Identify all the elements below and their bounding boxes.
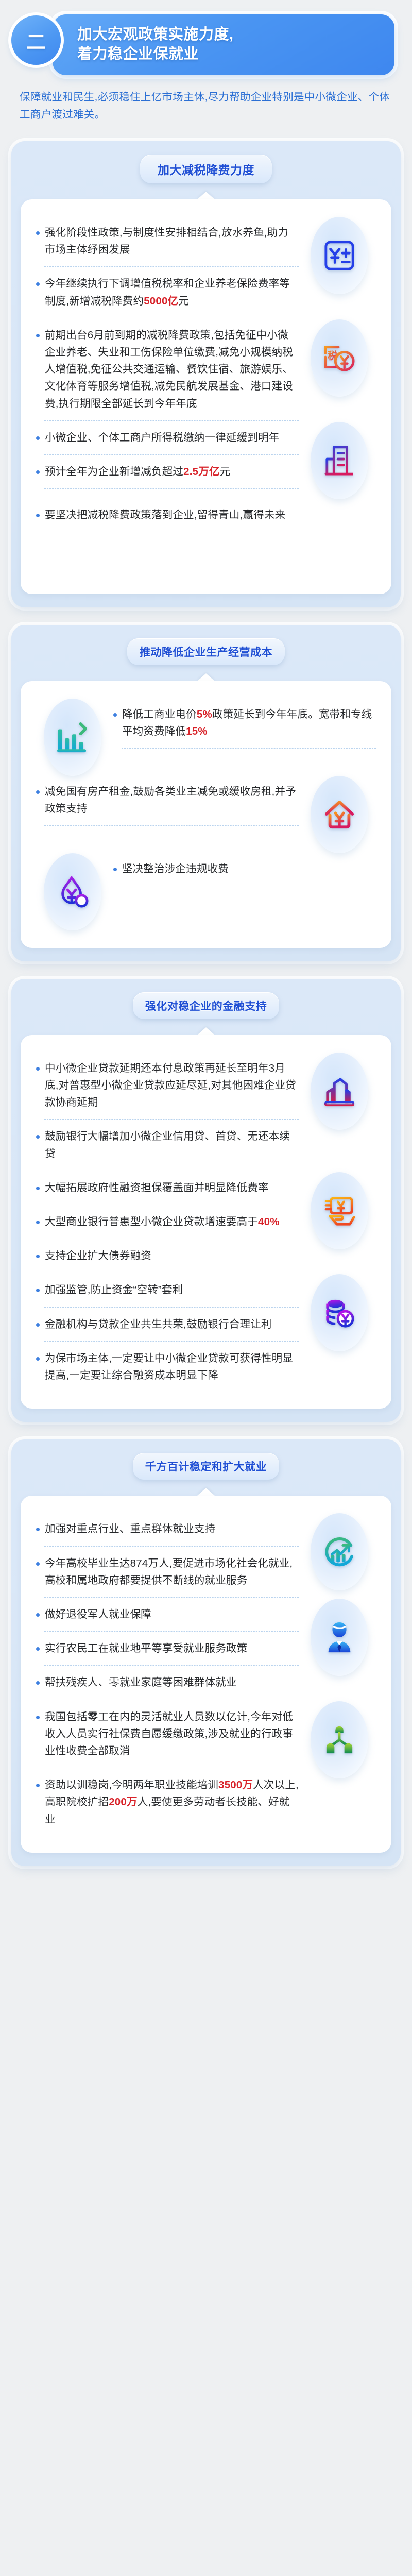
icon-cell bbox=[301, 1274, 378, 1351]
icon-cell: 税 bbox=[301, 319, 378, 397]
bullet-text: 加强监管,防止资金“空转”套利 bbox=[45, 1281, 183, 1298]
page-title-line-1: 加大宏观政策实施力度, bbox=[77, 25, 234, 45]
bullet-divider bbox=[44, 1546, 299, 1547]
header-title-bar: 加大宏观政策实施力度, 着力稳企业保就业 bbox=[53, 14, 394, 75]
section-notch bbox=[197, 192, 215, 199]
section-title: 加大减税降费力度 bbox=[140, 155, 272, 183]
bullet-text: 鼓励银行大幅增加小微企业信用贷、首贷、无还本续贷 bbox=[45, 1128, 299, 1162]
highlight-value: 5% bbox=[197, 708, 212, 720]
bullet-text: 前期出台6月前到期的减税降费政策,包括免征中小微企业养老、失业和工伤保险单位缴费… bbox=[45, 327, 299, 412]
bullet-divider bbox=[44, 1341, 299, 1342]
bullet-text-group: 加强对重点行业、重点群体就业支持今年高校毕业生达874万人,要促进市场化社会化就… bbox=[34, 1513, 301, 1599]
water-drop-yen-minus-icon bbox=[44, 853, 101, 930]
bullet-row: 加强对重点行业、重点群体就业支持今年高校毕业生达874万人,要促进市场化社会化就… bbox=[34, 1513, 378, 1599]
bullet-text-group: 坚决整治涉企违规收费 bbox=[111, 853, 378, 885]
bullet-dot-icon bbox=[36, 1357, 40, 1361]
sections-container: 加大减税降费力度 强化阶段性政策,与制度性安排相结合,放水养鱼,助力市场主体纾困… bbox=[0, 141, 412, 1866]
icon-cell bbox=[301, 1599, 378, 1676]
bullet-divider bbox=[44, 1768, 299, 1768]
bullet-item: 强化阶段性政策,与制度性安排相结合,放水养鱼,助力市场主体纾困发展 bbox=[34, 217, 301, 265]
bullet-text: 实行农民工在就业地平等享受就业服务政策 bbox=[45, 1640, 247, 1657]
highlight-value: 40% bbox=[258, 1216, 280, 1228]
bullet-item: 预计全年为企业新增减负超过2.5万亿元 bbox=[34, 456, 301, 487]
bullet-divider bbox=[44, 1631, 299, 1632]
icon-cell bbox=[301, 217, 378, 294]
bullet-item: 前期出台6月前到期的减税降费政策,包括免征中小微企业养老、失业和工伤保险单位缴费… bbox=[34, 319, 301, 419]
highlight-value: 15% bbox=[186, 725, 208, 737]
bullet-divider bbox=[44, 1119, 299, 1120]
bullet-dot-icon bbox=[36, 470, 40, 474]
section-body: 强化阶段性政策,与制度性安排相结合,放水养鱼,助力市场主体纾困发展今年继续执行下… bbox=[21, 199, 391, 594]
bullet-dot-icon bbox=[36, 514, 40, 517]
city-buildings-icon bbox=[311, 1053, 368, 1130]
bullet-item: 为保市场主体,一定要让中小微企业贷款可获得性明显提高,一定要让综合融资成本明显下… bbox=[34, 1343, 301, 1391]
bullet-divider bbox=[44, 1307, 299, 1308]
icon-spacer bbox=[301, 499, 378, 577]
bullet-text: 减免国有房产租金,鼓励各类业主减免或缓收房租,并予政策支持 bbox=[45, 783, 299, 817]
bullet-item: 加强监管,防止资金“空转”套利 bbox=[34, 1274, 301, 1306]
section-body: 中小微企业贷款延期还本付息政策再延长至明年3月底,对普惠型小微企业贷款应延尽延,… bbox=[21, 1035, 391, 1409]
bullet-text-group: 加强监管,防止资金“空转”套利金融机构与贷款企业共生共荣,鼓励银行合理让利为保市… bbox=[34, 1274, 301, 1391]
bullet-text: 今年高校毕业生达874万人,要促进市场化社会化就业,高校和属地政府都要提供不断线… bbox=[45, 1555, 299, 1589]
bullet-text: 帮扶残疾人、零就业家庭等困难群体就业 bbox=[45, 1674, 237, 1691]
bullet-item: 我国包括零工在内的灵活就业人员数以亿计,今年对低收入人员实行社保费自愿缓缴政策,… bbox=[34, 1701, 301, 1767]
bullet-text: 大型商业银行普惠型小微企业贷款增速要高于40% bbox=[45, 1213, 280, 1230]
bullet-dot-icon bbox=[36, 436, 40, 440]
bullet-row: 加强监管,防止资金“空转”套利金融机构与贷款企业共生共荣,鼓励银行合理让利为保市… bbox=[34, 1274, 378, 1391]
intro-paragraph: 保障就业和民生,必须稳住上亿市场主体,尽力帮助企业特别是中小微企业、个体工商户渡… bbox=[20, 89, 392, 124]
bullet-text: 预计全年为企业新增减负超过2.5万亿元 bbox=[45, 463, 230, 480]
bullet-divider bbox=[122, 748, 376, 749]
bullet-row: 小微企业、个体工商户所得税缴纳一律延缓到明年预计全年为企业新增减负超过2.5万亿… bbox=[34, 422, 378, 499]
coins-stack-yen-icon bbox=[311, 1274, 368, 1351]
bullet-item: 帮扶残疾人、零就业家庭等困难群体就业 bbox=[34, 1667, 301, 1698]
bullet-text: 今年继续执行下调增值税税率和企业养老保险费率等制度,新增减税降费约5000亿元 bbox=[45, 275, 299, 309]
bullet-text-group: 中小微企业贷款延期还本付息政策再延长至明年3月底,对普惠型小微企业贷款应延尽延,… bbox=[34, 1053, 301, 1172]
bullet-text: 强化阶段性政策,与制度性安排相结合,放水养鱼,助力市场主体纾困发展 bbox=[45, 224, 299, 258]
bullet-dot-icon bbox=[36, 1135, 40, 1139]
bullet-row: 大幅拓展政府性融资担保覆盖面并明显降低费率大型商业银行普惠型小微企业贷款增速要高… bbox=[34, 1172, 378, 1275]
highlight-value: 5000亿 bbox=[144, 295, 178, 307]
bullet-text: 小微企业、个体工商户所得税缴纳一律延缓到明年 bbox=[45, 429, 279, 446]
bullet-dot-icon bbox=[36, 1681, 40, 1685]
people-network-icon bbox=[311, 1701, 368, 1778]
section-title: 千方百计稳定和扩大就业 bbox=[133, 1453, 280, 1480]
policy-section: 强化对稳企业的金融支持 中小微企业贷款延期还本付息政策再延长至明年3月底,对普惠… bbox=[11, 979, 401, 1422]
bullet-text: 做好退役军人就业保障 bbox=[45, 1606, 151, 1623]
wallet-hand-yen-icon bbox=[311, 1172, 368, 1249]
bullet-text-group: 大幅拓展政府性融资担保覆盖面并明显降低费率大型商业银行普惠型小微企业贷款增速要高… bbox=[34, 1172, 301, 1275]
bullet-dot-icon bbox=[36, 1613, 40, 1617]
section-title: 强化对稳企业的金融支持 bbox=[133, 992, 280, 1019]
bullet-row: 减免国有房产租金,鼓励各类业主减免或缓收房租,并予政策支持 bbox=[34, 776, 378, 853]
section-notch bbox=[197, 1488, 215, 1496]
bullet-item: 中小微企业贷款延期还本付息政策再延长至明年3月底,对普惠型小微企业贷款应延尽延,… bbox=[34, 1053, 301, 1118]
bullet-dot-icon bbox=[36, 1289, 40, 1292]
bullet-item: 支持企业扩大债券融资 bbox=[34, 1240, 301, 1272]
section-notch bbox=[197, 673, 215, 681]
growth-chart-arrow-icon bbox=[311, 1513, 368, 1590]
bullet-row: 要坚决把减税降费政策落到企业,留得青山,赢得未来 bbox=[34, 499, 378, 577]
bullet-divider bbox=[44, 454, 299, 455]
bullet-row: 坚决整治涉企违规收费 bbox=[34, 853, 378, 930]
highlight-value: 200万 bbox=[109, 1796, 138, 1808]
bullet-item: 资助以训稳岗,今明两年职业技能培训3500万人次以上,高职院校扩招200万人,要… bbox=[34, 1769, 301, 1835]
bullet-text-group: 我国包括零工在内的灵活就业人员数以亿计,今年对低收入人员实行社保费自愿缓缴政策,… bbox=[34, 1701, 301, 1835]
bullet-divider bbox=[44, 1665, 299, 1666]
tax-yen-icon: 税 bbox=[311, 319, 368, 397]
bullet-dot-icon bbox=[113, 868, 117, 871]
icon-cell bbox=[34, 699, 111, 776]
section-title: 推动降低企业生产经营成本 bbox=[127, 638, 285, 665]
bullet-text: 加强对重点行业、重点群体就业支持 bbox=[45, 1520, 215, 1537]
bullet-row: 中小微企业贷款延期还本付息政策再延长至明年3月底,对普惠型小微企业贷款应延尽延,… bbox=[34, 1053, 378, 1172]
bullet-text: 降低工商业电价5%政策延长到今年年底。宽带和专线平均资费降低15% bbox=[122, 706, 376, 740]
bullet-item: 今年继续执行下调增值税税率和企业养老保险费率等制度,新增减税降费约5000亿元 bbox=[34, 268, 301, 316]
bullet-text: 支持企业扩大债券融资 bbox=[45, 1247, 151, 1264]
bullet-dot-icon bbox=[36, 1784, 40, 1787]
bullet-divider bbox=[44, 266, 299, 267]
businessman-avatar-icon bbox=[311, 1599, 368, 1676]
bullet-divider bbox=[44, 825, 299, 826]
bullet-item: 实行农民工在就业地平等享受就业服务政策 bbox=[34, 1633, 301, 1664]
bullet-dot-icon bbox=[36, 1562, 40, 1566]
bullet-divider bbox=[44, 1239, 299, 1239]
section-number-badge: 二 bbox=[11, 15, 61, 65]
bullet-item: 金融机构与贷款企业共生共荣,鼓励银行合理让利 bbox=[34, 1309, 301, 1340]
bullet-item: 降低工商业电价5%政策延长到今年年底。宽带和专线平均资费降低15% bbox=[111, 699, 378, 747]
bullet-text-group: 减免国有房产租金,鼓励各类业主减免或缓收房租,并予政策支持 bbox=[34, 776, 301, 827]
policy-section: 加大减税降费力度 强化阶段性政策,与制度性安排相结合,放水养鱼,助力市场主体纾困… bbox=[11, 141, 401, 607]
bullet-text: 我国包括零工在内的灵活就业人员数以亿计,今年对低收入人员实行社保费自愿缓缴政策,… bbox=[45, 1708, 299, 1760]
page-title-line-2: 着力稳企业保就业 bbox=[77, 45, 234, 64]
icon-cell bbox=[301, 1172, 378, 1249]
bullet-dot-icon bbox=[36, 1221, 40, 1224]
policy-section: 千方百计稳定和扩大就业 加强对重点行业、重点群体就业支持今年高校毕业生达874万… bbox=[11, 1439, 401, 1866]
icon-cell bbox=[301, 422, 378, 499]
bullet-text: 资助以训稳岗,今明两年职业技能培训3500万人次以上,高职院校扩招200万人,要… bbox=[45, 1776, 299, 1828]
bullet-divider bbox=[44, 1171, 299, 1171]
bullet-text-group: 要坚决把减税降费政策落到企业,留得青山,赢得未来 bbox=[34, 499, 301, 531]
bullet-dot-icon bbox=[36, 1647, 40, 1651]
bullet-row: 税 前期出台6月前到期的减税降费政策,包括免征中小微企业养老、失业和工伤保险单位… bbox=[34, 319, 378, 422]
bullet-item: 小微企业、个体工商户所得税缴纳一律延缓到明年 bbox=[34, 422, 301, 453]
bullet-text: 大幅拓展政府性融资担保覆盖面并明显降低费率 bbox=[45, 1179, 269, 1196]
bullet-item: 要坚决把减税降费政策落到企业,留得青山,赢得未来 bbox=[34, 499, 301, 531]
bullet-row: 降低工商业电价5%政策延长到今年年底。宽带和专线平均资费降低15% bbox=[34, 699, 378, 776]
bullet-text-group: 强化阶段性政策,与制度性安排相结合,放水养鱼,助力市场主体纾困发展今年继续执行下… bbox=[34, 217, 301, 319]
bullet-item: 鼓励银行大幅增加小微企业信用贷、首贷、无还本续贷 bbox=[34, 1121, 301, 1169]
bullet-item: 大幅拓展政府性融资担保覆盖面并明显降低费率 bbox=[34, 1172, 301, 1204]
bullet-item: 减免国有房产租金,鼓励各类业主减免或缓收房租,并予政策支持 bbox=[34, 776, 301, 824]
bullet-divider bbox=[44, 1700, 299, 1700]
bullet-text: 金融机构与贷款企业共生共荣,鼓励银行合理让利 bbox=[45, 1316, 272, 1333]
policy-section: 推动降低企业生产经营成本 降低工商业电价5%政策延长到今年年底。宽带和专线平均资… bbox=[11, 625, 401, 961]
bullet-dot-icon bbox=[36, 1187, 40, 1190]
bullet-text: 坚决整治涉企违规收费 bbox=[122, 860, 229, 877]
yen-plus-minus-icon bbox=[311, 217, 368, 294]
highlight-value: 3500万 bbox=[218, 1779, 253, 1791]
bullet-item: 坚决整治涉企违规收费 bbox=[111, 853, 378, 885]
bullet-dot-icon bbox=[36, 282, 40, 286]
bullet-row: 我国包括零工在内的灵活就业人员数以亿计,今年对低收入人员实行社保费自愿缓缴政策,… bbox=[34, 1701, 378, 1835]
bullet-dot-icon bbox=[36, 1255, 40, 1258]
bullet-item: 做好退役军人就业保障 bbox=[34, 1599, 301, 1630]
bullet-divider bbox=[44, 488, 299, 489]
bullet-divider bbox=[44, 420, 299, 421]
bullet-text: 为保市场主体,一定要让中小微企业贷款可获得性明显提高,一定要让综合融资成本明显下… bbox=[45, 1350, 299, 1384]
bar-chart-down-arrow-icon bbox=[44, 699, 101, 776]
bullet-text-group: 降低工商业电价5%政策延长到今年年底。宽带和专线平均资费降低15% bbox=[111, 699, 378, 750]
bullet-text-group: 前期出台6月前到期的减税降费政策,包括免征中小微企业养老、失业和工伤保险单位缴费… bbox=[34, 319, 301, 422]
bar-chart-building-icon bbox=[311, 422, 368, 499]
section-body: 降低工商业电价5%政策延长到今年年底。宽带和专线平均资费降低15% 减免国有房产… bbox=[21, 681, 391, 948]
icon-cell bbox=[301, 776, 378, 853]
icon-cell bbox=[301, 1513, 378, 1590]
bullet-row: 做好退役军人就业保障实行农民工在就业地平等享受就业服务政策帮扶残疾人、零就业家庭… bbox=[34, 1599, 378, 1701]
bullet-dot-icon bbox=[36, 1716, 40, 1719]
bullet-divider bbox=[44, 1273, 299, 1273]
bullet-dot-icon bbox=[113, 713, 117, 717]
bullet-dot-icon bbox=[36, 1323, 40, 1327]
bullet-divider bbox=[44, 1597, 299, 1598]
bullet-dot-icon bbox=[36, 1067, 40, 1071]
bullet-dot-icon bbox=[36, 231, 40, 235]
bullet-dot-icon bbox=[36, 334, 40, 337]
bullet-dot-icon bbox=[36, 790, 40, 794]
bullet-divider bbox=[44, 1205, 299, 1205]
icon-cell bbox=[34, 853, 111, 930]
highlight-value: 2.5万亿 bbox=[183, 466, 220, 478]
bullet-text-group: 做好退役军人就业保障实行农民工在就业地平等享受就业服务政策帮扶残疾人、零就业家庭… bbox=[34, 1599, 301, 1701]
bullet-text-group: 小微企业、个体工商户所得税缴纳一律延缓到明年预计全年为企业新增减负超过2.5万亿… bbox=[34, 422, 301, 490]
house-yen-icon bbox=[311, 776, 368, 853]
bullet-divider bbox=[44, 318, 299, 318]
icon-cell bbox=[301, 1053, 378, 1130]
bullet-item: 大型商业银行普惠型小微企业贷款增速要高于40% bbox=[34, 1206, 301, 1238]
section-body: 加强对重点行业、重点群体就业支持今年高校毕业生达874万人,要促进市场化社会化就… bbox=[21, 1496, 391, 1852]
bullet-item: 加强对重点行业、重点群体就业支持 bbox=[34, 1513, 301, 1545]
icon-cell bbox=[301, 1701, 378, 1778]
bullet-text: 中小微企业贷款延期还本付息政策再延长至明年3月底,对普惠型小微企业贷款应延尽延,… bbox=[45, 1060, 299, 1111]
section-notch bbox=[197, 1027, 215, 1035]
page-header: 二 加大宏观政策实施力度, 着力稳企业保就业 bbox=[0, 0, 412, 75]
bullet-item: 今年高校毕业生达874万人,要促进市场化社会化就业,高校和属地政府都要提供不断线… bbox=[34, 1548, 301, 1596]
bullet-dot-icon bbox=[36, 1528, 40, 1531]
bullet-text: 要坚决把减税降费政策落到企业,留得青山,赢得未来 bbox=[45, 506, 285, 523]
page-title: 加大宏观政策实施力度, 着力稳企业保就业 bbox=[77, 25, 234, 64]
bullet-row: 强化阶段性政策,与制度性安排相结合,放水养鱼,助力市场主体纾困发展今年继续执行下… bbox=[34, 217, 378, 319]
